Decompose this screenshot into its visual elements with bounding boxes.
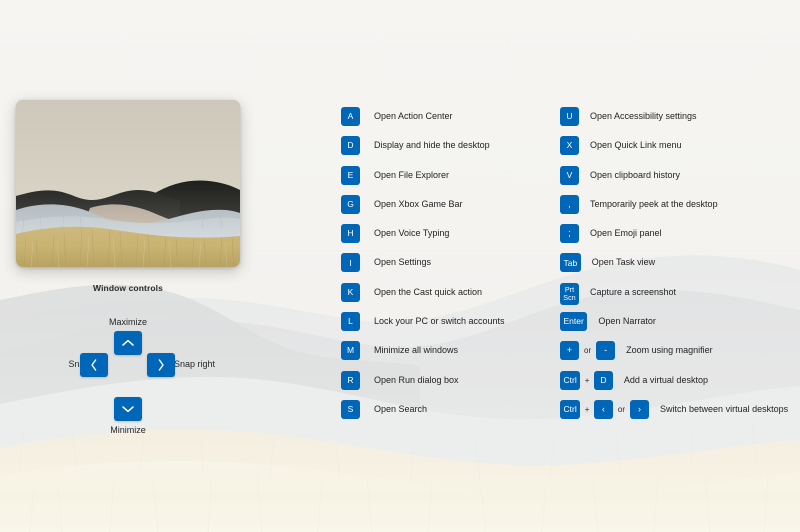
shortcut-description: Zoom using magnifier bbox=[626, 341, 713, 360]
key-combo: D bbox=[341, 136, 360, 155]
shortcut-description: Open Task view bbox=[592, 253, 655, 272]
chevron-down-icon bbox=[122, 405, 134, 413]
key-combo: Enter bbox=[560, 312, 587, 331]
window-controls-panel: Window controls Maximize Minimize Snap l… bbox=[16, 283, 240, 439]
key-combo: M bbox=[341, 341, 360, 360]
key-combo: X bbox=[560, 136, 579, 155]
key-combo: U bbox=[560, 107, 579, 126]
key-combo: , bbox=[560, 195, 579, 214]
shortcut-row: ;Open Emoji panel bbox=[560, 224, 788, 253]
shortcut-row: LLock your PC or switch accounts bbox=[341, 312, 505, 341]
key-a[interactable]: A bbox=[341, 107, 360, 126]
shortcut-description: Open File Explorer bbox=[374, 166, 449, 185]
window-controls-title: Window controls bbox=[16, 283, 240, 293]
chevron-left-icon bbox=[90, 359, 98, 371]
shortcut-description: Display and hide the desktop bbox=[374, 136, 490, 155]
shortcut-description: Open Emoji panel bbox=[590, 224, 662, 243]
key-combo: A bbox=[341, 107, 360, 126]
joiner-or: or bbox=[579, 341, 596, 360]
key-combo: Tab bbox=[560, 253, 581, 272]
shortcut-description: Open Action Center bbox=[374, 107, 453, 126]
shortcut-row: KOpen the Cast quick action bbox=[341, 283, 505, 312]
shortcut-description: Temporarily peek at the desktop bbox=[590, 195, 718, 214]
key-chevron-right[interactable]: › bbox=[630, 400, 649, 419]
key-combo: I bbox=[341, 253, 360, 272]
key-i[interactable]: I bbox=[341, 253, 360, 272]
shortcut-row: TabOpen Task view bbox=[560, 253, 788, 282]
key-ctrl[interactable]: Ctrl bbox=[560, 371, 580, 390]
shortcut-description: Open Xbox Game Bar bbox=[374, 195, 463, 214]
key-u[interactable]: U bbox=[560, 107, 579, 126]
key-m[interactable]: M bbox=[341, 341, 360, 360]
shortcut-row: IOpen Settings bbox=[341, 253, 505, 282]
shortcut-row: AOpen Action Center bbox=[341, 107, 505, 136]
snap-right-label: Snap right bbox=[174, 353, 244, 375]
key-combo: Prt Scn bbox=[560, 283, 579, 305]
shortcut-description: Open Quick Link menu bbox=[590, 136, 682, 155]
shortcut-row: VOpen clipboard history bbox=[560, 166, 788, 195]
key-e[interactable]: E bbox=[341, 166, 360, 185]
maximize-button[interactable] bbox=[114, 331, 142, 355]
key-ctrl[interactable]: Ctrl bbox=[560, 400, 580, 419]
key-l[interactable]: L bbox=[341, 312, 360, 331]
key-d[interactable]: D bbox=[594, 371, 613, 390]
shortcut-description: Open Accessibility settings bbox=[590, 107, 697, 126]
minimize-label: Minimize bbox=[16, 425, 240, 435]
key-chevron-left[interactable]: ‹ bbox=[594, 400, 613, 419]
shortcut-row: Ctrl+DAdd a virtual desktop bbox=[560, 371, 788, 400]
key-combo: E bbox=[341, 166, 360, 185]
minimize-button[interactable] bbox=[114, 397, 142, 421]
shortcut-description: Capture a screenshot bbox=[590, 283, 676, 302]
chevron-up-icon bbox=[122, 339, 134, 347]
shortcut-row: Prt ScnCapture a screenshot bbox=[560, 283, 788, 312]
shortcut-row: EOpen File Explorer bbox=[341, 166, 505, 195]
shortcut-row: XOpen Quick Link menu bbox=[560, 136, 788, 165]
shortcut-description: Open Run dialog box bbox=[374, 371, 459, 390]
shortcut-description: Lock your PC or switch accounts bbox=[374, 312, 505, 331]
key-d[interactable]: D bbox=[341, 136, 360, 155]
shortcut-list-right: UOpen Accessibility settingsXOpen Quick … bbox=[560, 107, 788, 429]
key-comma[interactable]: , bbox=[560, 195, 579, 214]
shortcut-row: DDisplay and hide the desktop bbox=[341, 136, 505, 165]
key-combo: V bbox=[560, 166, 579, 185]
joiner-or: or bbox=[613, 400, 630, 419]
shortcut-description: Switch between virtual desktops bbox=[660, 400, 788, 419]
wallpaper-thumbnail-graphic bbox=[16, 100, 240, 267]
shortcut-description: Open Search bbox=[374, 400, 427, 419]
key-combo: Ctrl+‹or› bbox=[560, 400, 649, 419]
key-minus[interactable]: - bbox=[596, 341, 615, 360]
shortcut-row: UOpen Accessibility settings bbox=[560, 107, 788, 136]
key-s[interactable]: S bbox=[341, 400, 360, 419]
key-combo: R bbox=[341, 371, 360, 390]
shortcut-description: Open Narrator bbox=[598, 312, 656, 331]
key-x[interactable]: X bbox=[560, 136, 579, 155]
key-combo: S bbox=[341, 400, 360, 419]
shortcuts-overview-page: Window controls Maximize Minimize Snap l… bbox=[0, 0, 800, 532]
key-prt-scn[interactable]: Prt Scn bbox=[560, 283, 579, 305]
key-combo: L bbox=[341, 312, 360, 331]
key-combo: ; bbox=[560, 224, 579, 243]
shortcut-row: SOpen Search bbox=[341, 400, 505, 429]
shortcut-row: +or-Zoom using magnifier bbox=[560, 341, 788, 370]
key-combo: Ctrl+D bbox=[560, 371, 613, 390]
key-g[interactable]: G bbox=[341, 195, 360, 214]
shortcut-description: Add a virtual desktop bbox=[624, 371, 708, 390]
key-tab[interactable]: Tab bbox=[560, 253, 581, 272]
key-k[interactable]: K bbox=[341, 283, 360, 302]
key-combo: K bbox=[341, 283, 360, 302]
key-semicolon[interactable]: ; bbox=[560, 224, 579, 243]
shortcut-description: Open clipboard history bbox=[590, 166, 680, 185]
key-h[interactable]: H bbox=[341, 224, 360, 243]
shortcut-row: HOpen Voice Typing bbox=[341, 224, 505, 253]
shortcut-row: Ctrl+‹or›Switch between virtual desktops bbox=[560, 400, 788, 429]
shortcut-row: EnterOpen Narrator bbox=[560, 312, 788, 341]
shortcut-row: ROpen Run dialog box bbox=[341, 371, 505, 400]
key-combo: +or- bbox=[560, 341, 615, 360]
key-enter[interactable]: Enter bbox=[560, 312, 587, 331]
shortcut-description: Open Settings bbox=[374, 253, 431, 272]
maximize-label: Maximize bbox=[16, 317, 240, 327]
wallpaper-thumbnail bbox=[16, 100, 240, 267]
snap-right-button[interactable] bbox=[147, 353, 175, 377]
key-r[interactable]: R bbox=[341, 371, 360, 390]
shortcut-list-left: AOpen Action CenterDDisplay and hide the… bbox=[341, 107, 505, 429]
joiner-plus: + bbox=[580, 371, 594, 390]
shortcut-description: Open the Cast quick action bbox=[374, 283, 482, 302]
shortcut-description: Minimize all windows bbox=[374, 341, 458, 360]
shortcut-row: ,Temporarily peek at the desktop bbox=[560, 195, 788, 224]
shortcut-description: Open Voice Typing bbox=[374, 224, 449, 243]
shortcut-row: MMinimize all windows bbox=[341, 341, 505, 370]
key-v[interactable]: V bbox=[560, 166, 579, 185]
snap-left-button[interactable] bbox=[80, 353, 108, 377]
key-combo: G bbox=[341, 195, 360, 214]
shortcut-row: GOpen Xbox Game Bar bbox=[341, 195, 505, 224]
key-combo: H bbox=[341, 224, 360, 243]
chevron-right-icon bbox=[157, 359, 165, 371]
joiner-plus: + bbox=[580, 400, 594, 419]
key-plus[interactable]: + bbox=[560, 341, 579, 360]
